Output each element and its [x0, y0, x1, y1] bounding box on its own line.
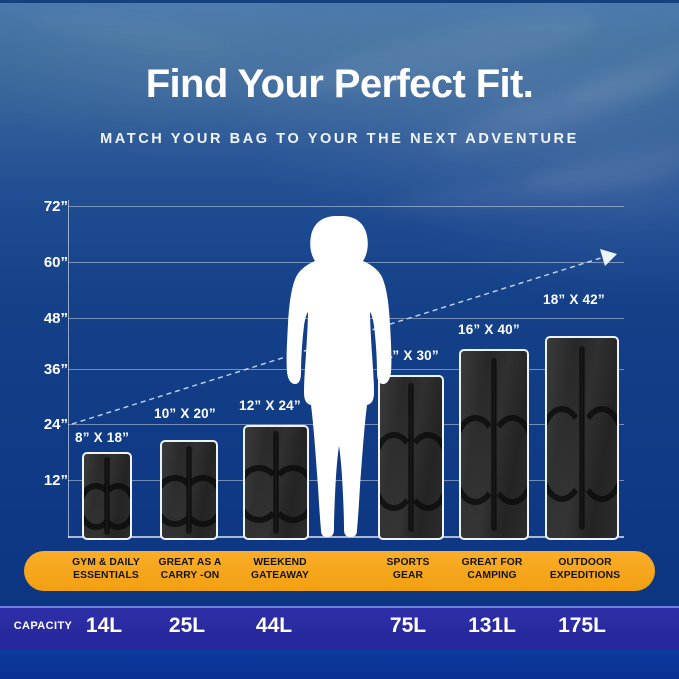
- bag-body: [82, 452, 132, 540]
- category-line-1: GYM & DAILY: [72, 557, 140, 568]
- bag-body: [160, 440, 218, 540]
- bag-strap-icon: [105, 457, 110, 534]
- category-line-2: CARRY -ON: [161, 570, 220, 581]
- y-tick-label-36: 36”: [22, 361, 68, 378]
- category-line-1: OUTDOOR: [558, 557, 611, 568]
- category-line-2: GEAR: [393, 570, 423, 581]
- bag-bar-5[interactable]: [459, 349, 525, 536]
- bag-size-label-6: 18” X 42”: [543, 292, 605, 307]
- category-line-1: SPORTS: [387, 557, 430, 568]
- category-line-1: GREAT FOR: [462, 557, 523, 568]
- y-tick-label-12: 12”: [22, 472, 68, 489]
- category-line-2: CAMPING: [467, 570, 516, 581]
- category-label-4: SPORTS GEAR: [362, 557, 454, 582]
- y-tick-label-24: 24”: [22, 416, 68, 433]
- category-label-3: WEEKEND GATEAWAY: [228, 557, 332, 582]
- bag-bar-1[interactable]: [82, 452, 128, 536]
- gridline-72: [68, 206, 624, 207]
- category-line-1: GREAT AS A: [159, 557, 222, 568]
- bag-body: [459, 349, 529, 540]
- y-tick-label-48: 48”: [22, 310, 68, 327]
- category-label-5: GREAT FOR CAMPING: [443, 557, 541, 582]
- bag-strap-icon: [492, 358, 497, 530]
- category-line-2: EXPEDITIONS: [550, 570, 620, 581]
- bag-bar-2[interactable]: [160, 440, 214, 536]
- capacity-value-2: 25L: [149, 614, 225, 638]
- category-line-2: ESSENTIALS: [73, 570, 139, 581]
- bag-bar-6[interactable]: [545, 336, 615, 536]
- y-tick-label-60: 60”: [22, 254, 68, 271]
- bag-size-label-1: 8” X 18”: [75, 430, 129, 445]
- bag-strap-icon: [580, 346, 585, 530]
- category-line-1: WEEKEND: [253, 557, 306, 568]
- capacity-value-5: 131L: [452, 614, 532, 638]
- capacity-value-3: 44L: [236, 614, 312, 638]
- capacity-value-4: 75L: [370, 614, 446, 638]
- bag-strap-icon: [187, 446, 192, 534]
- bag-size-label-2: 10” X 20”: [154, 406, 216, 421]
- y-axis-line: [68, 200, 69, 538]
- y-tick-label-72: 72”: [22, 198, 68, 215]
- category-line-2: GATEAWAY: [251, 570, 309, 581]
- bag-size-label-5: 16” X 40”: [458, 322, 520, 337]
- human-silhouette-icon: [278, 214, 400, 538]
- capacity-value-6: 175L: [540, 614, 624, 638]
- infographic-canvas: Find Your Perfect Fit. MATCH YOUR BAG TO…: [0, 0, 679, 679]
- capacity-value-1: 14L: [66, 614, 142, 638]
- bottom-strip: [0, 650, 679, 679]
- category-label-2: GREAT AS A CARRY -ON: [141, 557, 239, 582]
- bag-body: [545, 336, 619, 540]
- category-label-6: OUTDOOR EXPEDITIONS: [531, 557, 639, 582]
- bag-strap-icon: [409, 383, 414, 531]
